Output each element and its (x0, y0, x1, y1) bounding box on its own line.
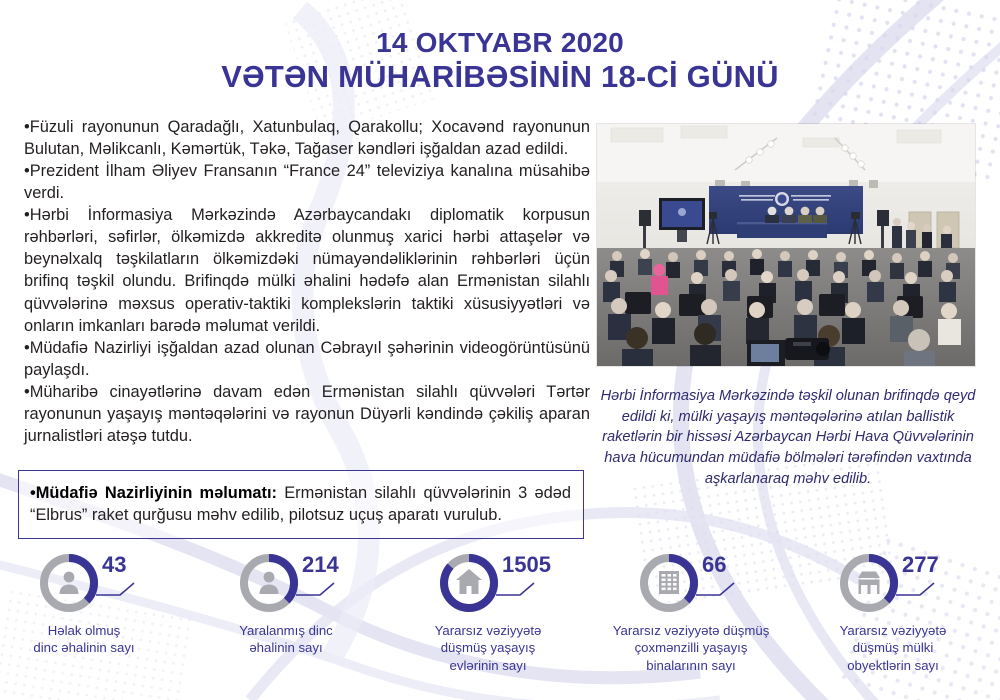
body-paragraph: •Hərbi İnformasiya Mərkəzində Azərbaycan… (24, 204, 590, 336)
stat-label: Yararsız vəziyyətə düşmüş mülki obyektlə… (803, 622, 983, 674)
stat-item-destroyed-civilian-objects: 277 Yararsız vəziyyətə düşmüş mülki obye… (800, 552, 1000, 700)
page-title: 14 OKTYABR 2020 VƏTƏN MÜHARİBƏSİNİN 18-C… (0, 26, 1000, 96)
title-subtitle: VƏTƏN MÜHARİBƏSİNİN 18-Cİ GÜNÜ (0, 59, 1000, 96)
stat-value: 277 (902, 552, 939, 578)
body-paragraph: •Prezident İlham Əliyev Fransanın “Franc… (24, 160, 590, 204)
body-paragraph: •Müharibə cinayətlərinə davam edən Ermən… (24, 381, 590, 447)
shop-icon (858, 572, 880, 595)
stat-item-civilian-deaths: 43 Həlak olmuş dinc əhalinin sayı (0, 552, 200, 700)
body-paragraph: •Füzuli rayonunun Qaradağlı, Xatunbulaq,… (24, 116, 590, 160)
body-paragraph: •Müdafiə Nazirliyi işğaldan azad olunan … (24, 337, 590, 381)
infographic-page: 14 OKTYABR 2020 VƏTƏN MÜHARİBƏSİNİN 18-C… (0, 0, 1000, 700)
stat-item-destroyed-houses: 1505 Yararsız vəziyyətə düşmüş yaşayış e… (400, 552, 600, 700)
leader-line (494, 582, 538, 600)
title-date: 14 OKTYABR 2020 (0, 26, 1000, 59)
ministry-statement-box: •Müdafiə Nazirliyinin məlumatı: Ermənist… (18, 470, 584, 539)
stat-value: 1505 (502, 552, 551, 578)
stat-item-destroyed-apartment-buildings: 66 Yararsız vəziyyətə düşmüş çoxmənzilli… (600, 552, 800, 700)
donut-chart (838, 552, 900, 614)
person-icon (60, 572, 79, 594)
statistics-row: 43 Həlak olmuş dinc əhalinin sayı (0, 552, 1000, 700)
photo-caption: Hərbi İnformasiya Mərkəzində təşkil olun… (600, 386, 976, 490)
stat-label: Yararsız vəziyyətə düşmüş çoxmənzilli ya… (591, 622, 791, 674)
leader-line (294, 582, 338, 600)
ministry-statement-text: •Müdafiə Nazirliyinin məlumatı: Ermənist… (30, 482, 571, 527)
stat-item-civilian-injured: 214 Yaralanmış dinc əhalinin sayı (200, 552, 400, 700)
stat-label: Həlak olmuş dinc əhalinin sayı (0, 622, 169, 657)
apartment-building-icon (659, 571, 679, 594)
ministry-statement-label: •Müdafiə Nazirliyinin məlumatı: (30, 484, 277, 502)
donut-chart (238, 552, 300, 614)
stat-value: 43 (102, 552, 126, 578)
leader-line (894, 582, 938, 600)
donut-chart (638, 552, 700, 614)
donut-chart (38, 552, 100, 614)
stat-label: Yararsız vəziyyətə düşmüş yaşayış evləri… (403, 622, 573, 674)
donut-chart (438, 552, 500, 614)
body-text-column: •Füzuli rayonunun Qaradağlı, Xatunbulaq,… (24, 116, 590, 447)
stat-value: 66 (702, 552, 726, 578)
leader-line (94, 582, 138, 600)
stat-label: Yaralanmış dinc əhalinin sayı (201, 622, 371, 657)
press-briefing-photo (597, 124, 975, 366)
stat-value: 214 (302, 552, 339, 578)
person-icon (260, 572, 279, 594)
leader-line (694, 582, 738, 600)
house-icon (456, 569, 482, 594)
